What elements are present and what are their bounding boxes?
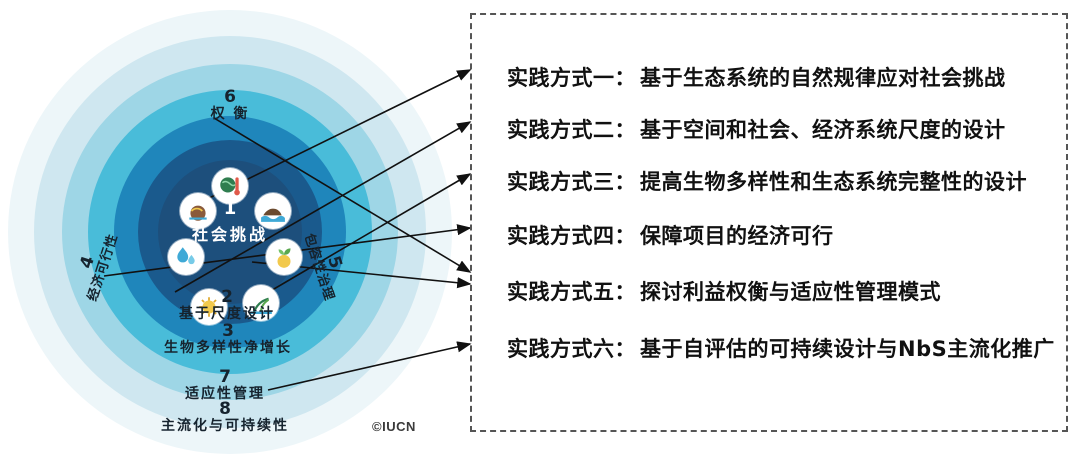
practice-item-5: 实践方式五：探讨利益权衡与适应性管理模式 (507, 276, 941, 306)
practice-item-3-name: 实践方式三： (507, 170, 636, 194)
diagram-stage: 1 社会挑战 2 基于尺度设计 3 生物多样性净增长 4 经济可行性 5 包容性… (0, 0, 1080, 460)
practice-item-3-desc: 提高生物多样性和生态系统完整性的设计 (640, 170, 1027, 194)
human-health-icon (191, 289, 227, 325)
ecosystem-degradation-icon (180, 193, 216, 229)
practice-item-2-name: 实践方式二： (507, 118, 636, 142)
practice-item-1: 实践方式一：基于生态系统的自然规律应对社会挑战 (507, 62, 1006, 92)
practice-item-5-name: 实践方式五： (507, 280, 636, 304)
food-security-icon (266, 239, 302, 275)
practice-item-6: 实践方式六：基于自评估的可持续设计与NbS主流化推广 (507, 333, 1055, 363)
practice-item-1-name: 实践方式一： (507, 66, 636, 90)
practice-item-4-desc: 保障项目的经济可行 (640, 224, 834, 248)
practice-item-2: 实践方式二：基于空间和社会、经济系统尺度的设计 (507, 114, 1006, 144)
practice-item-5-desc: 探讨利益权衡与适应性管理模式 (640, 280, 941, 304)
practice-item-4-name: 实践方式四： (507, 224, 636, 248)
practice-item-6-name: 实践方式六： (507, 337, 636, 361)
practice-item-3: 实践方式三：提高生物多样性和生态系统完整性的设计 (507, 166, 1027, 196)
concentric-rings (8, 10, 452, 454)
practice-item-6-desc: 基于自评估的可持续设计与NbS主流化推广 (640, 337, 1055, 361)
practice-item-4: 实践方式四：保障项目的经济可行 (507, 220, 834, 250)
practice-item-2-desc: 基于空间和社会、经济系统尺度的设计 (640, 118, 1006, 142)
water-security-icon (168, 239, 204, 275)
practice-item-1-desc: 基于生态系统的自然规律应对社会挑战 (640, 66, 1006, 90)
practice-methods-panel: 实践方式一：基于生态系统的自然规律应对社会挑战 实践方式二：基于空间和社会、经济… (470, 13, 1068, 432)
climate-change-icon (212, 168, 248, 204)
iucn-watermark: ©IUCN (372, 419, 416, 434)
economic-development-icon (243, 285, 279, 321)
disaster-risk-icon (255, 193, 291, 229)
